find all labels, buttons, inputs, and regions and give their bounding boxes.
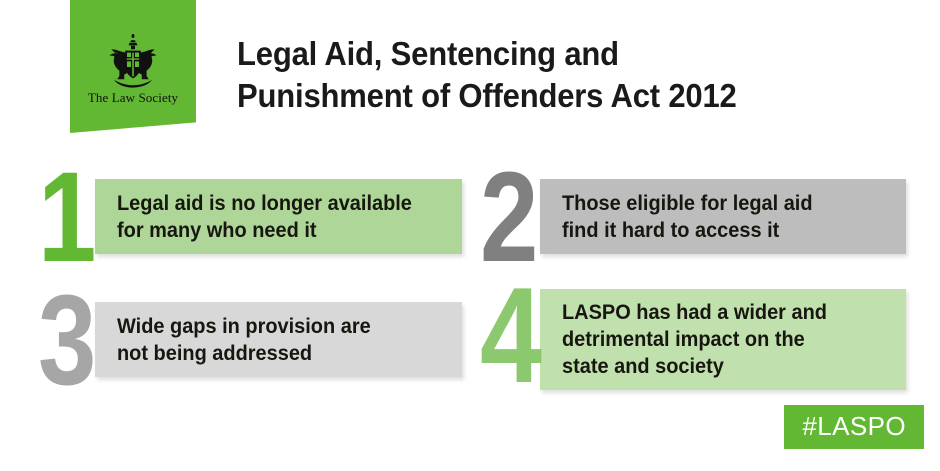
- laspo-infographic: The Law Society Legal Aid, Sentencing an…: [0, 0, 940, 471]
- point-2-numeral: 2: [480, 162, 537, 274]
- point-2-text-line-1: Those eligible for legal aid: [562, 190, 889, 217]
- point-4-text-line-1: LASPO has had a wider and: [562, 299, 889, 326]
- point-3-box: Wide gaps in provision are not being add…: [95, 302, 462, 377]
- page-title-line-2: Punishment of Offenders Act 2012: [237, 75, 876, 117]
- point-1-text-line-2: for many who need it: [117, 217, 445, 244]
- point-4-box: LASPO has had a wider and detrimental im…: [540, 289, 906, 390]
- point-3-text-line-1: Wide gaps in provision are: [117, 313, 445, 340]
- hashtag-badge: #LASPO: [784, 405, 924, 449]
- point-4-text-line-3: state and society: [562, 353, 889, 380]
- point-1-text-line-1: Legal aid is no longer available: [117, 190, 445, 217]
- page-title: Legal Aid, Sentencing and Punishment of …: [237, 33, 876, 117]
- point-item-4: LASPO has had a wider and detrimental im…: [480, 285, 910, 405]
- point-item-2: Those eligible for legal aid find it har…: [480, 162, 910, 282]
- point-3-numeral: 3: [38, 285, 93, 397]
- page-title-line-1: Legal Aid, Sentencing and: [237, 33, 876, 75]
- law-society-banner: The Law Society: [70, 0, 196, 133]
- law-society-crest-icon: [102, 33, 164, 89]
- point-4-numeral: 4: [480, 279, 539, 391]
- law-society-wordmark: The Law Society: [70, 90, 196, 106]
- point-4-text-line-2: detrimental impact on the: [562, 326, 889, 353]
- point-3-text-line-2: not being addressed: [117, 340, 445, 367]
- point-item-1: Legal aid is no longer available for man…: [38, 162, 468, 282]
- point-2-box: Those eligible for legal aid find it har…: [540, 179, 906, 254]
- point-2-text-line-2: find it hard to access it: [562, 217, 889, 244]
- point-1-numeral: 1: [38, 162, 93, 274]
- point-item-3: Wide gaps in provision are not being add…: [38, 285, 468, 405]
- point-1-box: Legal aid is no longer available for man…: [95, 179, 462, 254]
